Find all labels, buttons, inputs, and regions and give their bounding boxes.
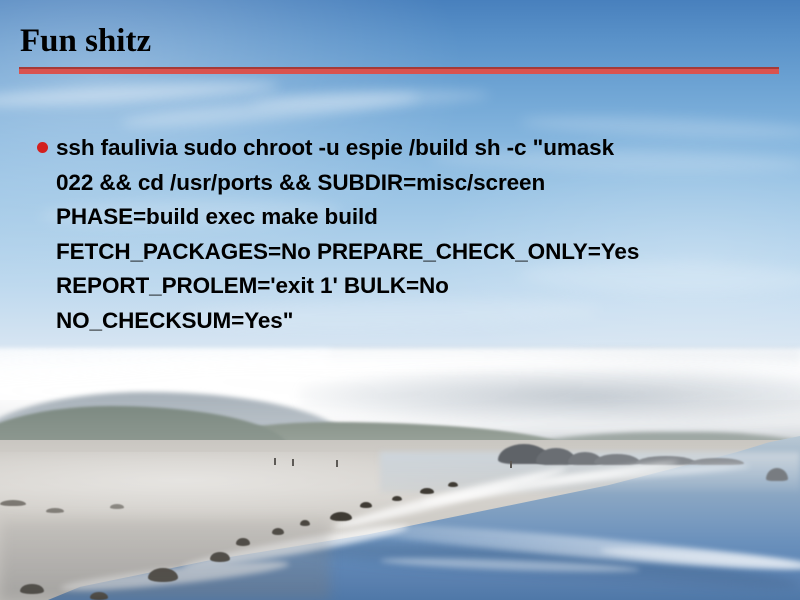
- shore-debris: [392, 496, 402, 501]
- shore-debris: [0, 500, 26, 506]
- shore-debris: [110, 504, 124, 509]
- shore-debris: [448, 482, 458, 487]
- beach-figure: [292, 459, 294, 466]
- shore-debris: [330, 512, 352, 521]
- beach-figure: [510, 461, 512, 468]
- wet-sand-shading: [0, 520, 330, 600]
- shore-debris: [46, 508, 64, 513]
- shoreline-rocks: [498, 442, 758, 468]
- slide-title: Fun shitz: [20, 22, 151, 60]
- presentation-slide: Fun shitz ssh faulivia sudo chroot -u es…: [0, 0, 800, 600]
- beach-figure: [336, 460, 338, 467]
- bullet-item: ssh faulivia sudo chroot -u espie /build…: [36, 131, 748, 338]
- shore-debris: [360, 502, 372, 508]
- shore-debris: [420, 488, 434, 494]
- rock: [690, 458, 744, 465]
- beach-figure: [274, 458, 276, 465]
- slide-body: ssh faulivia sudo chroot -u espie /build…: [36, 131, 748, 338]
- bullet-dot-icon: [37, 142, 48, 153]
- rock: [594, 454, 640, 465]
- title-underline-rule: [19, 67, 779, 74]
- bullet-item-text: ssh faulivia sudo chroot -u espie /build…: [56, 131, 748, 338]
